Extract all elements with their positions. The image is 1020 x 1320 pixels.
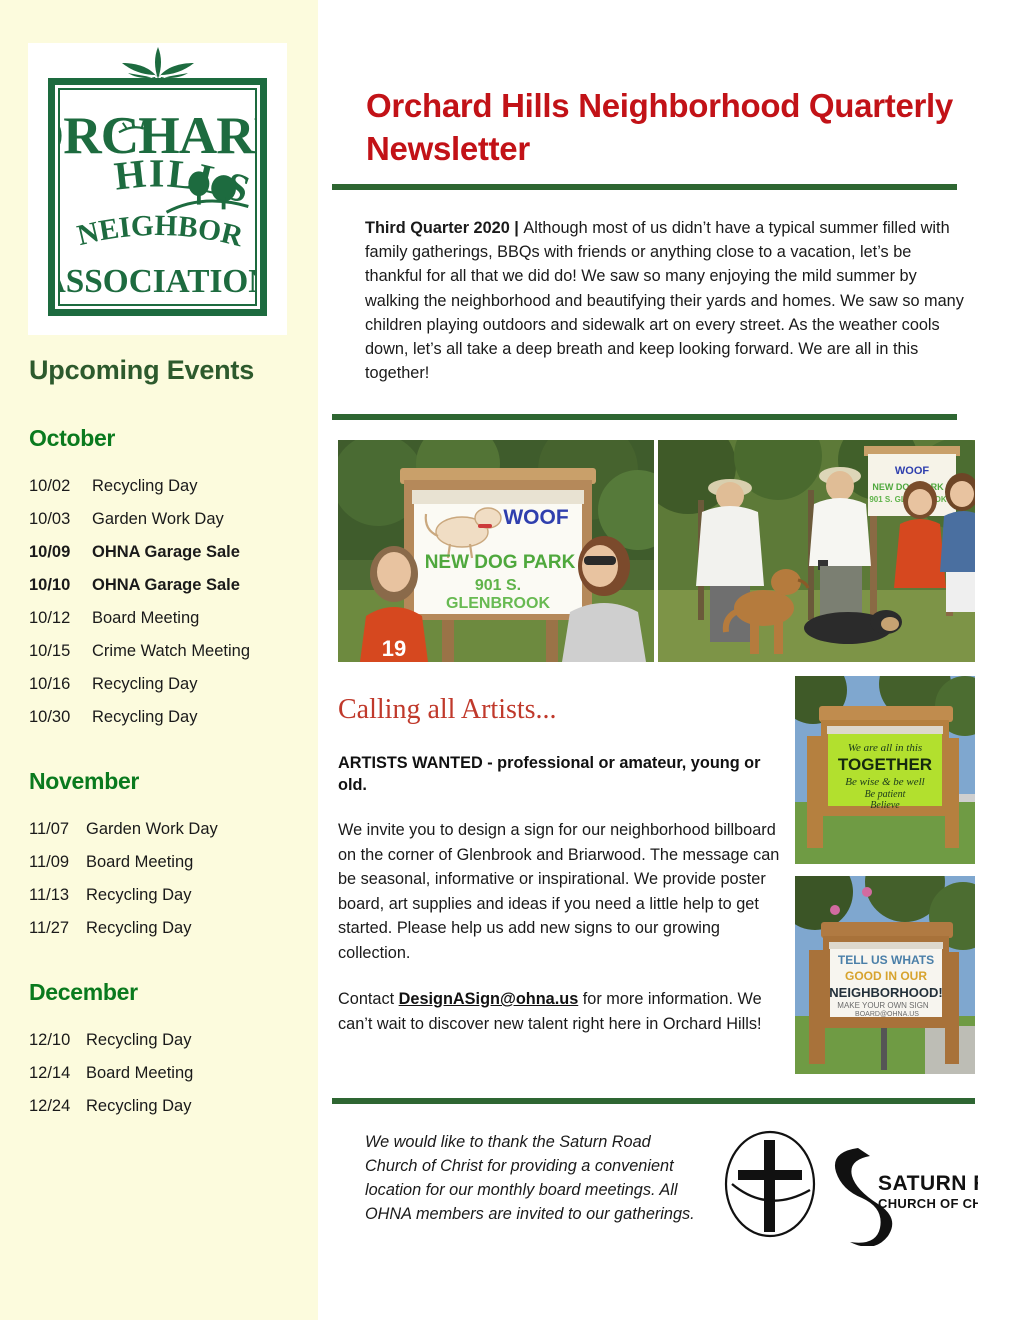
contact-prefix: Contact: [338, 990, 399, 1008]
photo-sign-together: We are all in this TOGETHER Be wise & be…: [795, 676, 975, 864]
logo-frame: ORCHARD HILLS: [48, 78, 267, 316]
event-row: 10/02Recycling Day: [29, 470, 304, 503]
event-row: 10/10OHNA Garage Sale: [29, 569, 304, 602]
event-row: 10/16Recycling Day: [29, 668, 304, 701]
event-label: Recycling Day: [92, 668, 304, 701]
artists-subheading: ARTISTS WANTED - professional or amateur…: [338, 752, 788, 796]
event-row: 10/03Garden Work Day: [29, 503, 304, 536]
event-date: 10/10: [29, 569, 92, 602]
sidebar: ORCHARD HILLS: [0, 0, 318, 1320]
event-label: Recycling Day: [86, 1090, 304, 1123]
event-date: 10/16: [29, 668, 92, 701]
photo-sign-neighborhood: TELL US WHATS GOOD IN OUR NEIGHBORHOOD! …: [795, 876, 975, 1074]
month-heading-october: October: [29, 425, 304, 452]
intro-body: Although most of us didn’t have a typica…: [365, 219, 964, 382]
event-date: 10/12: [29, 602, 92, 635]
sign-text-line3: GLENBROOK: [446, 595, 550, 612]
intro-lead: Third Quarter 2020 |: [365, 219, 523, 237]
month-block-november: November11/07Garden Work Day11/09Board M…: [29, 768, 304, 945]
event-row: 11/13Recycling Day: [29, 879, 304, 912]
event-date: 10/02: [29, 470, 92, 503]
event-label: Recycling Day: [92, 701, 304, 734]
event-label: Recycling Day: [86, 1024, 304, 1057]
month-block-december: December12/10Recycling Day12/14Board Mee…: [29, 979, 304, 1123]
sign-together-line1: We are all in this: [848, 742, 922, 754]
month-heading-december: December: [29, 979, 304, 1006]
association-logo: ORCHARD HILLS: [28, 43, 287, 335]
sign-together-line4: Be patient: [865, 789, 906, 800]
event-date: 12/14: [29, 1057, 86, 1090]
sign-text-line1: NEW DOG PARK: [425, 552, 576, 573]
svg-text:WOOF: WOOF: [895, 465, 929, 477]
event-date: 10/15: [29, 635, 92, 668]
event-row: 10/12Board Meeting: [29, 602, 304, 635]
event-label: Board Meeting: [86, 1057, 304, 1090]
artists-heading: Calling all Artists...: [338, 694, 557, 726]
design-a-sign-email-link[interactable]: DesignASign@ohna.us: [399, 990, 579, 1008]
event-row: 10/09OHNA Garage Sale: [29, 536, 304, 569]
event-row: 11/07Garden Work Day: [29, 813, 304, 846]
logo-wordmark: ORCHARD HILLS: [60, 90, 255, 304]
sign-neighborhood-line1: TELL US WHATS: [838, 953, 934, 967]
logo-inner-border: ORCHARD HILLS: [58, 88, 257, 306]
divider-bottom: [332, 1098, 975, 1104]
event-label: OHNA Garage Sale: [92, 569, 304, 602]
main-content: Orchard Hills Neighborhood Quarterly New…: [318, 0, 1020, 1320]
event-row: 12/14Board Meeting: [29, 1057, 304, 1090]
sign-neighborhood-line2: GOOD IN OUR: [845, 969, 927, 983]
divider-top: [332, 184, 957, 190]
logo-text-association: ASSOCIATION: [60, 263, 255, 300]
upcoming-events-heading: Upcoming Events: [29, 355, 254, 386]
event-label: Garden Work Day: [86, 813, 304, 846]
church-name-line2: CHURCH OF CHRIST: [878, 1196, 978, 1211]
event-row: 10/30Recycling Day: [29, 701, 304, 734]
event-date: 11/07: [29, 813, 86, 846]
sign-together-line2: TOGETHER: [838, 755, 932, 774]
sign-neighborhood-line3: NEIGHBORHOOD!: [829, 985, 942, 1000]
photo-dogpark-people: WOOF NEW DOG PARK 901 S. GLENBROOK: [658, 440, 975, 662]
photo-dogpark-sign: WOOF NEW DOG PARK 901 S. GLENBROOK 19: [338, 440, 654, 662]
sign-text-woof: WOOF: [503, 506, 568, 529]
event-label: Recycling Day: [86, 912, 304, 945]
sign-together-line5: Believe: [870, 800, 900, 811]
sign-together-line3: Be wise & be well: [845, 776, 924, 788]
sign-neighborhood-line4: MAKE YOUR OWN SIGN: [837, 1001, 929, 1010]
event-date: 11/13: [29, 879, 86, 912]
event-date: 12/10: [29, 1024, 86, 1057]
svg-text:19: 19: [382, 636, 406, 661]
event-row: 11/09Board Meeting: [29, 846, 304, 879]
cross-horizontal: [738, 1170, 802, 1180]
event-label: Crime Watch Meeting: [92, 635, 304, 668]
artists-contact-paragraph: Contact DesignASign@ohna.us for more inf…: [338, 987, 793, 1036]
footer-thank-you-note: We would like to thank the Saturn Road C…: [365, 1130, 695, 1226]
artists-paragraph-1: We invite you to design a sign for our n…: [338, 818, 793, 965]
event-label: Recycling Day: [92, 470, 304, 503]
event-row: 11/27Recycling Day: [29, 912, 304, 945]
event-label: Recycling Day: [86, 879, 304, 912]
event-row: 10/15Crime Watch Meeting: [29, 635, 304, 668]
month-block-october: October10/02Recycling Day10/03Garden Wor…: [29, 425, 304, 734]
event-date: 10/09: [29, 536, 92, 569]
saturn-road-church-logo: SATURN ROAD CHURCH OF CHRIST: [708, 1128, 978, 1246]
events-list: October10/02Recycling Day10/03Garden Wor…: [29, 425, 304, 1157]
sign-text-line2: 901 S.: [475, 577, 521, 594]
event-label: Board Meeting: [92, 602, 304, 635]
event-label: OHNA Garage Sale: [92, 536, 304, 569]
church-name-line1: SATURN ROAD: [878, 1172, 978, 1195]
event-date: 12/24: [29, 1090, 86, 1123]
event-date: 11/09: [29, 846, 86, 879]
event-date: 10/03: [29, 503, 92, 536]
intro-paragraph: Third Quarter 2020 | Although most of us…: [365, 216, 965, 385]
page-title: Orchard Hills Neighborhood Quarterly New…: [366, 84, 966, 170]
month-heading-november: November: [29, 768, 304, 795]
divider-middle: [332, 414, 957, 420]
event-label: Garden Work Day: [92, 503, 304, 536]
event-date: 11/27: [29, 912, 86, 945]
event-date: 10/30: [29, 701, 92, 734]
artists-body: We invite you to design a sign for our n…: [338, 818, 793, 1036]
event-row: 12/24Recycling Day: [29, 1090, 304, 1123]
cross-vertical: [764, 1140, 775, 1232]
event-label: Board Meeting: [86, 846, 304, 879]
sign-neighborhood-line5: BOARD@OHNA.US: [855, 1011, 919, 1018]
photo-band: WOOF NEW DOG PARK 901 S. GLENBROOK 19: [338, 440, 975, 662]
event-row: 12/10Recycling Day: [29, 1024, 304, 1057]
